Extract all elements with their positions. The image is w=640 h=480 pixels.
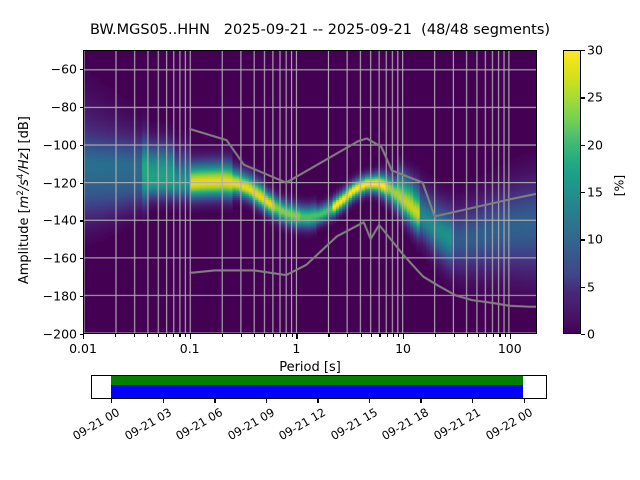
- x-tick-mark: [398, 334, 399, 337]
- x-tick-label: 10: [395, 341, 411, 356]
- y-tick-label: −160: [37, 251, 77, 266]
- colorbar-tick-label: 15: [587, 185, 611, 200]
- y-tick-mark: [80, 183, 84, 184]
- colorbar-tick-mark: [581, 192, 585, 193]
- x-tick-mark: [454, 334, 455, 337]
- colorbar-tick-label: 5: [587, 279, 611, 294]
- x-tick-mark: [510, 334, 511, 339]
- y-tick-label: −120: [37, 175, 77, 190]
- timeline-segment-coverage: [111, 376, 523, 385]
- figure-title: BW.MGS05..HHN 2025-09-21 -- 2025-09-21 (…: [0, 22, 640, 38]
- x-tick-mark: [393, 334, 394, 337]
- timeline-date-label: 09-21 06: [165, 405, 226, 448]
- x-tick-mark: [190, 334, 191, 339]
- colorbar-label: [%]: [611, 175, 626, 197]
- timeline-data-availability: [111, 385, 523, 398]
- x-tick-mark: [179, 334, 180, 337]
- timeline-date-label: 09-21 18: [371, 405, 432, 448]
- y-tick-label: −100: [37, 137, 77, 152]
- x-tick-mark: [158, 334, 159, 337]
- x-tick-mark: [499, 334, 500, 337]
- noise-model-curves: [84, 51, 536, 333]
- x-tick-mark: [493, 334, 494, 337]
- timeline-date-label: 09-21 12: [268, 405, 329, 448]
- x-tick-mark: [296, 334, 297, 339]
- timeline-date-label: 09-22 00: [474, 405, 535, 448]
- colorbar-tick-mark: [581, 50, 585, 51]
- x-tick-mark: [361, 334, 362, 337]
- colorbar-tick-label: 0: [587, 327, 611, 342]
- colorbar-tick-mark: [581, 145, 585, 146]
- x-tick-mark: [83, 334, 84, 339]
- timeline-tick-mark: [420, 399, 421, 403]
- x-tick-mark: [328, 334, 329, 337]
- x-tick-mark: [264, 334, 265, 337]
- x-tick-mark: [387, 334, 388, 337]
- y-tick-label: −80: [37, 99, 77, 114]
- x-tick-label: 0.1: [180, 341, 200, 356]
- x-tick-mark: [486, 334, 487, 337]
- x-tick-mark: [478, 334, 479, 337]
- ppsd-figure: BW.MGS05..HHN 2025-09-21 -- 2025-09-21 (…: [0, 0, 640, 480]
- colorbar-tick-label: 20: [587, 137, 611, 152]
- y-tick-mark: [80, 258, 84, 259]
- timeline-tick-mark: [472, 399, 473, 403]
- colorbar-tick-label: 25: [587, 90, 611, 105]
- colorbar-tick-mark: [581, 239, 585, 240]
- timeline-tick-mark: [266, 399, 267, 403]
- x-tick-mark: [505, 334, 506, 337]
- y-tick-label: −180: [37, 289, 77, 304]
- y-tick-mark: [80, 107, 84, 108]
- x-tick-mark: [371, 334, 372, 337]
- y-tick-label: −140: [37, 213, 77, 228]
- x-tick-mark: [166, 334, 167, 337]
- x-tick-mark: [222, 334, 223, 337]
- y-tick-label: −200: [37, 327, 77, 342]
- timeline-date-label: 09-21 15: [319, 405, 380, 448]
- timeline-tick-mark: [163, 399, 164, 403]
- x-tick-label: 1: [292, 341, 300, 356]
- x-tick-mark: [286, 334, 287, 337]
- y-tick-mark: [80, 296, 84, 297]
- y-tick-mark: [80, 145, 84, 146]
- timeline-tick-mark: [369, 399, 370, 403]
- x-tick-mark: [403, 334, 404, 339]
- colorbar[interactable]: [563, 50, 581, 334]
- y-tick-label: −60: [37, 61, 77, 76]
- timeline-tick-mark: [214, 399, 215, 403]
- x-tick-mark: [134, 334, 135, 337]
- x-tick-mark: [347, 334, 348, 337]
- timeline-tick-mark: [111, 399, 112, 403]
- x-tick-mark: [173, 334, 174, 337]
- x-tick-mark: [273, 334, 274, 337]
- colorbar-tick-label: 30: [587, 43, 611, 58]
- timeline-tick-mark: [317, 399, 318, 403]
- colorbar-tick-label: 10: [587, 232, 611, 247]
- x-tick-mark: [467, 334, 468, 337]
- timeline-date-label: 09-21 00: [62, 405, 123, 448]
- x-tick-mark: [379, 334, 380, 337]
- x-tick-label: 100: [498, 341, 522, 356]
- x-tick-mark: [241, 334, 242, 337]
- colorbar-tick-mark: [581, 334, 585, 335]
- timeline-date-label: 09-21 03: [113, 405, 174, 448]
- y-tick-mark: [80, 220, 84, 221]
- y-tick-mark: [80, 69, 84, 70]
- timeline-date-label: 09-21 09: [216, 405, 277, 448]
- timeline-date-label: 09-21 21: [422, 405, 483, 448]
- y-axis-label: Amplitude [m2/s4/Hz] [dB]: [16, 90, 32, 310]
- ppsd-axes[interactable]: [83, 50, 537, 334]
- colorbar-tick-mark: [581, 97, 585, 98]
- x-tick-mark: [115, 334, 116, 337]
- timeline-tick-mark: [524, 399, 525, 403]
- x-tick-mark: [254, 334, 255, 337]
- timeline-coverage-bar[interactable]: [91, 375, 547, 399]
- x-tick-mark: [292, 334, 293, 337]
- x-tick-mark: [185, 334, 186, 337]
- x-tick-label: 0.01: [69, 341, 97, 356]
- colorbar-tick-mark: [581, 287, 585, 288]
- x-tick-mark: [435, 334, 436, 337]
- x-tick-mark: [147, 334, 148, 337]
- x-axis-label: Period [s]: [83, 360, 537, 375]
- x-tick-mark: [280, 334, 281, 337]
